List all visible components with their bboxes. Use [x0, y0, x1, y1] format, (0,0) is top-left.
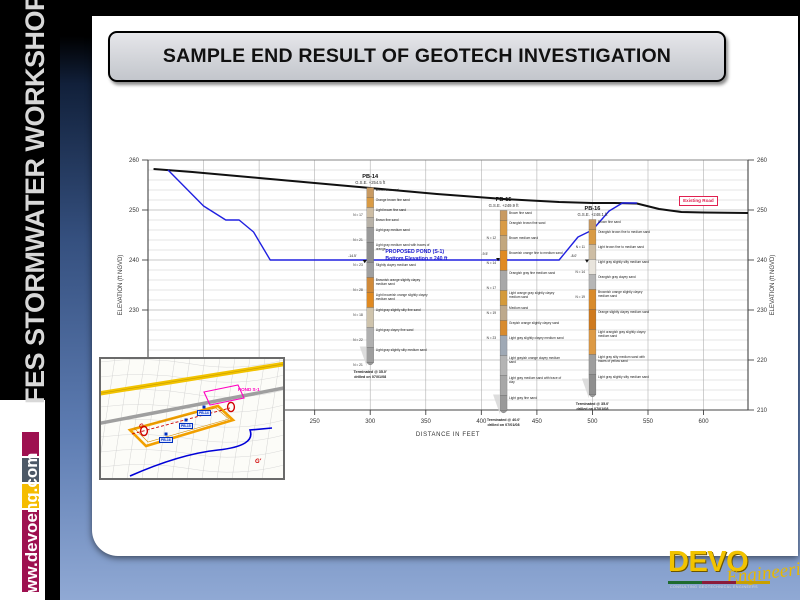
- soil-layer-description: Brownish orange slightly clayey medium s…: [598, 290, 654, 299]
- svg-text:DISTANCE IN FEET: DISTANCE IN FEET: [416, 432, 480, 438]
- spt-n-value: N = 17: [470, 286, 496, 290]
- banner-workshop-title: FES STORMWATER WORKSHOP 2010: [11, 4, 59, 404]
- spt-n-value: N = 23: [470, 336, 496, 340]
- svg-text:230: 230: [129, 308, 140, 314]
- soil-layer-description: Brown fine sand: [376, 218, 432, 222]
- svg-text:260: 260: [129, 158, 140, 164]
- svg-text:300: 300: [365, 419, 376, 425]
- soil-layer-description: Orangish gray clayey sand: [598, 275, 654, 279]
- map-boring-label-pb15: PB-15: [179, 423, 193, 429]
- boring-header-pb-15: PB-15G.S.E. +249.9 ft: [464, 197, 544, 208]
- soil-layer-description: Light brownish orange slightly clayey me…: [376, 293, 432, 302]
- svg-text:500: 500: [587, 419, 598, 425]
- pond-bottom-elevation: Bottom Elevation = 240 ft: [385, 256, 447, 263]
- soil-layer-description: Grayish orange slightly clayey sand: [509, 321, 565, 325]
- boring-drill-date: drilled on 07/01/08: [470, 423, 538, 428]
- logo-tagline: CONSULTING GEOTECHNICAL ENGINEERS: [670, 585, 758, 589]
- svg-text:250: 250: [757, 208, 768, 214]
- spt-n-value: N = 22: [337, 338, 363, 342]
- soil-layer-description: Orangish brown fine sand: [509, 221, 565, 225]
- soil-layer-description: Brownish orange slightly clayey medium s…: [376, 278, 432, 287]
- svg-text:600: 600: [699, 419, 710, 425]
- soil-layer-description: Light gray slightly silty fine sand: [376, 308, 432, 312]
- spt-n-value: N = 21: [337, 363, 363, 367]
- proposed-pond-annotation: PROPOSED POND (S-1)Bottom Elevation = 24…: [385, 249, 447, 263]
- svg-text:ELEVATION (ft NGVD): ELEVATION (ft NGVD): [118, 255, 124, 316]
- spt-n-value: N = 11: [559, 245, 585, 249]
- boring-ground-surface-elevation: G.S.E. +248.1 ft: [552, 212, 632, 217]
- svg-text:260: 260: [757, 158, 768, 164]
- boring-drill-date: drilled on 07/01/08: [336, 375, 404, 380]
- soil-layer-description: Slightly clayey medium sand: [376, 263, 432, 267]
- boring-termination-note: Terminated @ 35.0'drilled on 07/01/08: [558, 402, 626, 412]
- soil-layer-description: Light gray fine sand: [509, 396, 565, 400]
- spt-n-value: N = 19: [559, 295, 585, 299]
- water-table-depth: -14.5': [348, 254, 356, 258]
- svg-text:250: 250: [129, 208, 140, 214]
- svg-text:350: 350: [421, 419, 432, 425]
- soil-layer-description: Light grayish orange clayey medium sand: [509, 356, 565, 365]
- boring-header-pb-16: PB-16G.S.E. +248.1 ft: [552, 206, 632, 217]
- existing-road-callout: Existing Road: [679, 196, 718, 206]
- soil-layer-description: Orangish gray fine medium sand: [509, 271, 565, 275]
- slide-title-box: SAMPLE END RESULT OF GEOTECH INVESTIGATI…: [108, 31, 726, 82]
- spt-n-value: N = 18: [337, 313, 363, 317]
- spt-n-value: N = 19: [470, 311, 496, 315]
- soil-layer-description: Light brown fine to medium sand: [598, 245, 654, 249]
- soil-layer-description: Orange slightly clayey medium sand: [598, 310, 654, 314]
- devo-logo: DEVO Engineering CONSULTING GEOTECHNICAL…: [668, 546, 796, 594]
- svg-text:220: 220: [757, 358, 768, 364]
- boring-termination-note: Terminated @ 35.0'drilled on 07/01/08: [336, 370, 404, 380]
- spt-n-value: N = 14: [470, 261, 496, 265]
- map-pond-label: POND S-1: [238, 387, 260, 392]
- soil-layer-description: Light orangish gray slightly clayey medi…: [598, 330, 654, 339]
- svg-text:ELEVATION (ft NGVD): ELEVATION (ft NGVD): [770, 255, 776, 316]
- water-table-depth: -9.5': [482, 252, 489, 256]
- soil-layer-description: Light brown fine sand: [376, 208, 432, 212]
- svg-text:210: 210: [757, 408, 768, 414]
- svg-text:240: 240: [757, 258, 768, 264]
- soil-layer-description: Light gray slightly clayey medium sand: [509, 336, 565, 340]
- spt-n-value: N = 17: [337, 213, 363, 217]
- soil-layer-description: Orangish brown fine to medium sand: [598, 230, 654, 234]
- map-section-marker-g: G: [139, 424, 144, 430]
- soil-layer-description: Brown medium sand: [509, 236, 565, 240]
- boring-header-pb-14: PB-14G.S.E. +254.5 ft: [330, 174, 410, 185]
- soil-layer-description: Light gray medium sand: [376, 228, 432, 232]
- map-boring-label-pb16: PB-16: [159, 437, 173, 443]
- soil-layer-description: Light orange gray slightly clayey medium…: [509, 291, 565, 300]
- spt-n-value: N = 23: [337, 263, 363, 267]
- soil-layer-description: Light gray clayey fine sand: [376, 328, 432, 332]
- boring-ground-surface-elevation: G.S.E. +254.5 ft: [330, 180, 410, 185]
- soil-layer-description: Light gray slightly silty medium sand: [376, 348, 432, 352]
- soil-layer-description: Brownish orange fine to medium sand: [509, 251, 565, 255]
- svg-text:550: 550: [643, 419, 654, 425]
- svg-text:230: 230: [757, 308, 768, 314]
- left-banner: FES STORMWATER WORKSHOP 2010 www.devoeng…: [0, 0, 60, 600]
- soil-layer-description: Orange brown fine sand: [376, 198, 432, 202]
- soil-layer-description: Brown fine sand: [598, 220, 654, 224]
- soil-layer-description: Light gray slightly silty medium sand: [598, 375, 654, 379]
- logo-color-bars: [668, 581, 788, 584]
- boring-drill-date: drilled on 07/01/08: [558, 407, 626, 412]
- soil-layer-description: Medium sand: [509, 306, 565, 310]
- spt-n-value: N = 12: [470, 236, 496, 240]
- boring-ground-surface-elevation: G.S.E. +249.9 ft: [464, 203, 544, 208]
- pond-label: PROPOSED POND (S-1): [385, 249, 447, 256]
- map-boring-label-pb14: PB-14: [197, 410, 211, 416]
- svg-text:240: 240: [129, 258, 140, 264]
- spt-n-value: N = 14: [559, 270, 585, 274]
- slide-root: FES STORMWATER WORKSHOP 2010 www.devoeng…: [0, 0, 800, 600]
- spt-n-value: N = 21: [337, 238, 363, 242]
- soil-layer-description: Brown fine sand: [376, 188, 432, 192]
- boring-termination-note: Terminated @ 40.0'drilled on 07/01/08: [470, 418, 538, 428]
- page-title: SAMPLE END RESULT OF GEOTECH INVESTIGATI…: [163, 45, 671, 68]
- banner-website-url: www.devoeng.com: [19, 416, 45, 600]
- soil-layer-description: Light gray slightly silty medium sand: [598, 260, 654, 264]
- site-map-inset: PB-14PB-15PB-16POND S-1GG': [99, 357, 285, 480]
- water-table-depth: -8.0': [570, 254, 577, 258]
- map-section-marker-g-prime: G': [255, 459, 261, 465]
- svg-text:250: 250: [310, 419, 321, 425]
- soil-layer-description: Light gray medium sand with trace of cla…: [509, 376, 565, 385]
- spt-n-value: N = 28: [337, 288, 363, 292]
- soil-layer-description: Light gray silty medium sand with traces…: [598, 355, 654, 364]
